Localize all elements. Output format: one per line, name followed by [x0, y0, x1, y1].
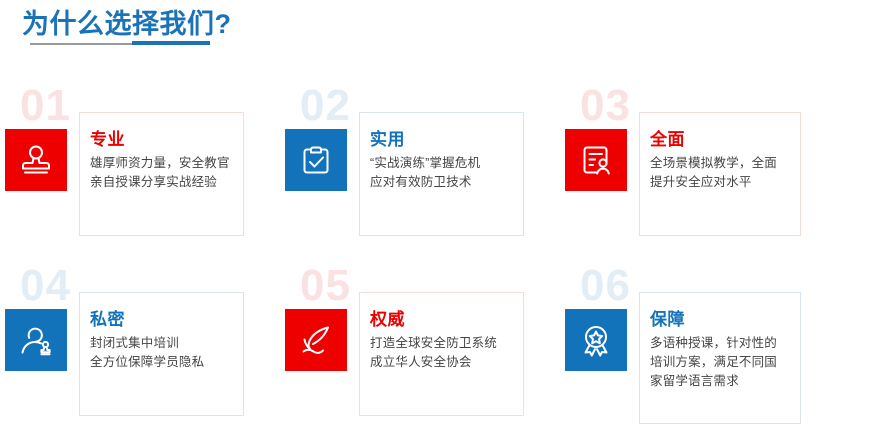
card-number: 05 [300, 264, 351, 308]
card-desc-line: 培训方案，满足不同国 [650, 353, 802, 372]
card-number: 02 [300, 84, 351, 128]
card-description: 全场景模拟教学，全面 提升安全应对水平 [650, 154, 802, 192]
feature-card-06[interactable]: 06 保障 多语种授课，针对性的 培训方案，满足不同国 家留学语言需求 [560, 264, 831, 432]
card-desc-line: 提升安全应对水平 [650, 173, 802, 192]
feature-card-grid: 01 专业 雄厚师资力量，安全教官 亲自授课分享实战经验 02 [0, 84, 871, 432]
feature-card-02[interactable]: 02 实用 “实战演练”掌握危机 应对有效防卫技术 [280, 84, 560, 264]
card-desc-line: 亲自授课分享实战经验 [90, 173, 242, 192]
card-number: 06 [580, 264, 631, 308]
card-title: 全面 [650, 129, 830, 151]
underline-blue-segment [132, 41, 210, 45]
card-title: 保障 [650, 309, 830, 331]
award-medal-icon [565, 309, 627, 371]
card-title: 实用 [370, 129, 550, 151]
card-number: 04 [20, 264, 71, 308]
card-text-block: 私密 封闭式集中培训 全方位保障学员隐私 [90, 309, 270, 372]
card-text-block: 权威 打造全球安全防卫系统 成立华人安全协会 [370, 309, 550, 372]
card-title: 专业 [90, 129, 270, 151]
card-desc-line: 家留学语言需求 [650, 372, 802, 391]
card-desc-line: “实战演练”掌握危机 [370, 154, 522, 173]
card-desc-line: 应对有效防卫技术 [370, 173, 522, 192]
card-title: 权威 [370, 309, 550, 331]
underline-gray-segment [30, 43, 132, 45]
card-description: 打造全球安全防卫系统 成立华人安全协会 [370, 334, 522, 372]
stamp-icon [5, 129, 67, 191]
feature-card-03[interactable]: 03 全面 全场景模拟教学，全面 提升安全应对水平 [560, 84, 831, 264]
card-desc-line: 全场景模拟教学，全面 [650, 154, 802, 173]
card-title: 私密 [90, 309, 270, 331]
person-badge-icon [5, 309, 67, 371]
quill-pen-icon [285, 309, 347, 371]
card-description: 雄厚师资力量，安全教官 亲自授课分享实战经验 [90, 154, 242, 192]
card-text-block: 实用 “实战演练”掌握危机 应对有效防卫技术 [370, 129, 550, 192]
feature-card-04[interactable]: 04 私密 封闭式集中培训 全方位保障学员隐私 [0, 264, 280, 432]
card-description: “实战演练”掌握危机 应对有效防卫技术 [370, 154, 522, 192]
card-description: 多语种授课，针对性的 培训方案，满足不同国 家留学语言需求 [650, 334, 802, 391]
feature-card-05[interactable]: 05 权威 打造全球安全防卫系统 成立华人安全协会 [280, 264, 560, 432]
document-person-icon [565, 129, 627, 191]
card-desc-line: 成立华人安全协会 [370, 353, 522, 372]
card-text-block: 保障 多语种授课，针对性的 培训方案，满足不同国 家留学语言需求 [650, 309, 830, 391]
card-desc-line: 多语种授课，针对性的 [650, 334, 802, 353]
card-text-block: 专业 雄厚师资力量，安全教官 亲自授课分享实战经验 [90, 129, 270, 192]
section-heading: 为什么选择我们? [22, 8, 442, 40]
why-choose-us-section: 为什么选择我们? 01 专业 雄厚师资力量，安全教官 亲自授课分享实战经验 [0, 0, 871, 432]
feature-card-01[interactable]: 01 专业 雄厚师资力量，安全教官 亲自授课分享实战经验 [0, 84, 280, 264]
card-number: 01 [20, 84, 71, 128]
clipboard-check-icon [285, 129, 347, 191]
heading-underline [30, 42, 210, 45]
card-description: 封闭式集中培训 全方位保障学员隐私 [90, 334, 242, 372]
card-desc-line: 打造全球安全防卫系统 [370, 334, 522, 353]
card-text-block: 全面 全场景模拟教学，全面 提升安全应对水平 [650, 129, 830, 192]
card-desc-line: 雄厚师资力量，安全教官 [90, 154, 242, 173]
card-desc-line: 封闭式集中培训 [90, 334, 242, 353]
card-number: 03 [580, 84, 631, 128]
card-desc-line: 全方位保障学员隐私 [90, 353, 242, 372]
page-title: 为什么选择我们? [22, 8, 442, 40]
